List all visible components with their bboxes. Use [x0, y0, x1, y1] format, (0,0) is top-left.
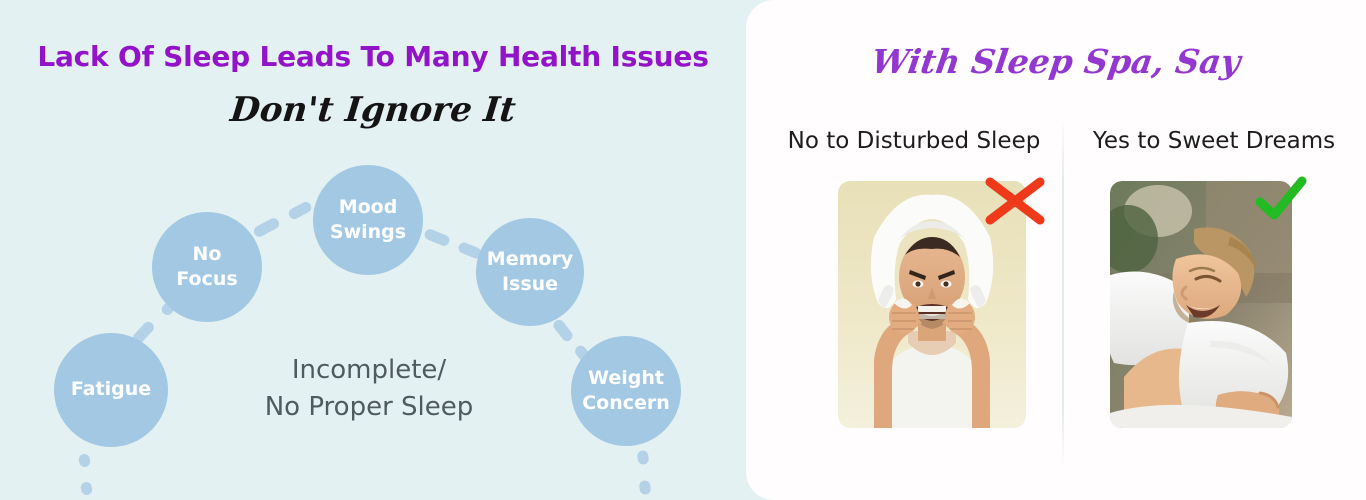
- node-label: Memory: [487, 247, 573, 272]
- center-caption-line2: No Proper Sleep: [233, 389, 505, 426]
- page-title: Lack Of Sleep Leads To Many Health Issue…: [0, 40, 746, 73]
- node-label: Fatigue: [71, 377, 151, 402]
- infographic-banner: Lack Of Sleep Leads To Many Health Issue…: [0, 0, 1366, 500]
- cross-icon: [984, 176, 1046, 226]
- check-icon: [1254, 176, 1308, 222]
- connector-dash: [423, 228, 451, 248]
- connector-dash: [639, 480, 652, 495]
- node-memory-issue[interactable]: Memory Issue: [476, 218, 584, 326]
- node-label: Concern: [582, 391, 670, 416]
- right-panel-title: With Sleep Spa, Say: [743, 42, 1366, 81]
- node-fatigue[interactable]: Fatigue: [54, 333, 168, 447]
- column-label-no-disturbed-sleep: No to Disturbed Sleep: [766, 128, 1062, 154]
- connector-dash: [252, 216, 281, 238]
- node-label: No: [176, 242, 237, 267]
- column-divider: [1062, 118, 1064, 470]
- connector-dash: [551, 318, 574, 344]
- node-no-focus[interactable]: No Focus: [152, 212, 262, 322]
- right-panel: With Sleep Spa, Say No to Disturbed Slee…: [746, 0, 1366, 500]
- connector-dash: [78, 453, 91, 468]
- node-mood-swings[interactable]: Mood Swings: [313, 165, 423, 275]
- left-panel: Lack Of Sleep Leads To Many Health Issue…: [0, 0, 746, 500]
- node-label: Focus: [176, 267, 237, 292]
- node-label: Mood: [330, 195, 406, 220]
- connector-dash: [637, 450, 650, 465]
- node-label: Issue: [487, 272, 573, 297]
- page-subtitle: Don't Ignore It: [0, 90, 748, 130]
- connector-dash: [287, 200, 313, 221]
- connector-dash: [80, 481, 93, 496]
- center-caption: Incomplete/ No Proper Sleep: [233, 352, 505, 426]
- node-weight-concern[interactable]: Weight Concern: [571, 336, 681, 446]
- node-label: Swings: [330, 220, 406, 245]
- column-label-yes-sweet-dreams: Yes to Sweet Dreams: [1066, 128, 1362, 154]
- node-label: Weight: [582, 366, 670, 391]
- center-caption-line1: Incomplete/: [233, 352, 505, 389]
